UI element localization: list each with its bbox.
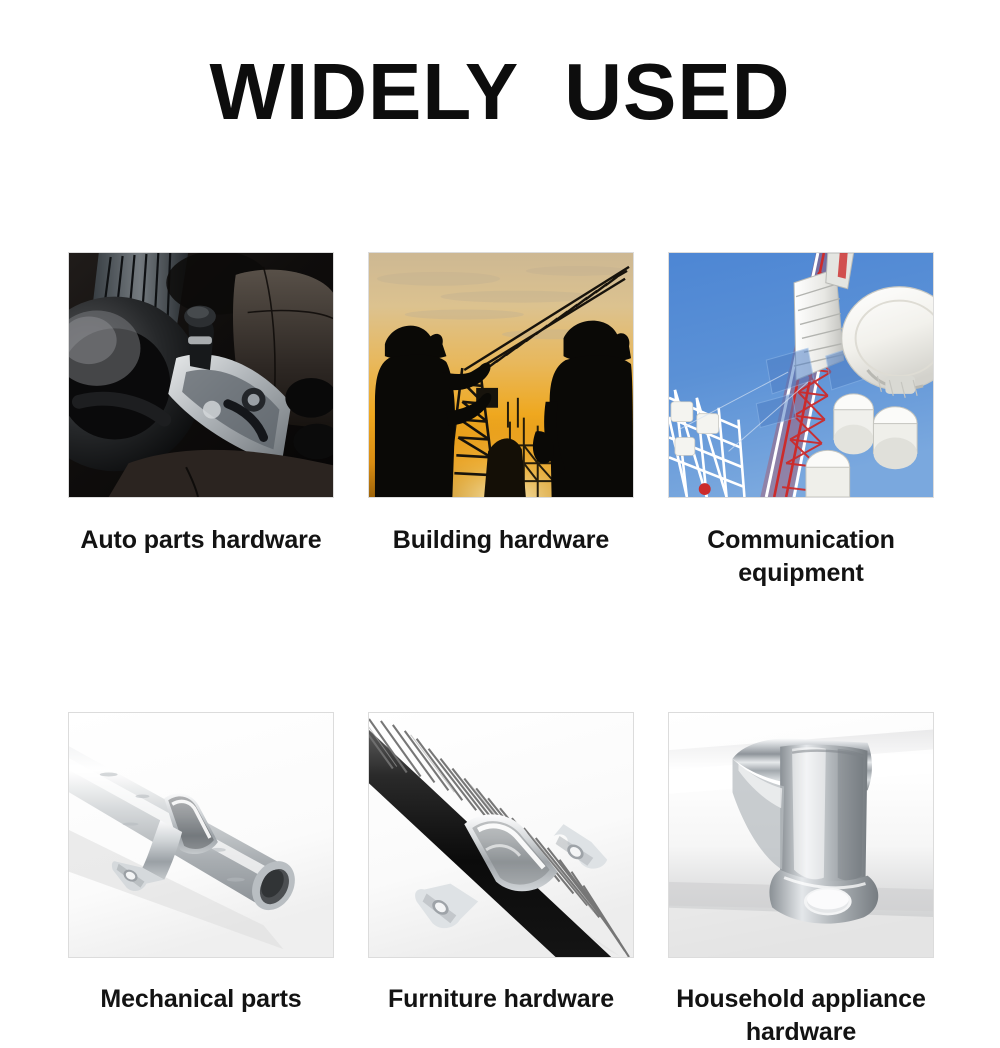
application-caption: Furniture hardware — [356, 983, 646, 1016]
application-card-mechanical-parts[interactable]: Mechanical parts — [68, 712, 334, 1048]
corrugated-conduit-hose-clamp-image — [368, 712, 634, 958]
application-caption: Mechanical parts — [56, 983, 346, 1016]
application-row-2: Mechanical parts — [68, 712, 936, 1048]
application-caption: Building hardware — [356, 524, 646, 557]
application-card-building-hardware[interactable]: Building hardware — [368, 252, 634, 589]
application-caption: Auto parts hardware — [56, 524, 346, 557]
galvanized-steel-pipe-clamp-image — [68, 712, 334, 958]
application-card-auto-parts-hardware[interactable]: Auto parts hardware — [68, 252, 334, 589]
application-caption: Household appliance hardware — [656, 983, 946, 1048]
construction-workers-crane-sunset-image — [368, 252, 634, 498]
application-caption: Communication equipment — [656, 524, 946, 589]
application-card-furniture-hardware[interactable]: Furniture hardware — [368, 712, 634, 1048]
communication-tower-antennas-image — [668, 252, 934, 498]
application-grid: Auto parts hardware — [68, 252, 936, 1048]
car-interior-gear-shifter-image — [68, 252, 334, 498]
page-title: WIDELY USED — [0, 52, 1000, 132]
white-pipe-stainless-clamp-image — [668, 712, 934, 958]
application-card-communication-equipment[interactable]: Communication equipment — [668, 252, 934, 589]
application-row-1: Auto parts hardware — [68, 252, 936, 589]
application-card-household-appliance-hardware[interactable]: Household appliance hardware — [668, 712, 934, 1048]
